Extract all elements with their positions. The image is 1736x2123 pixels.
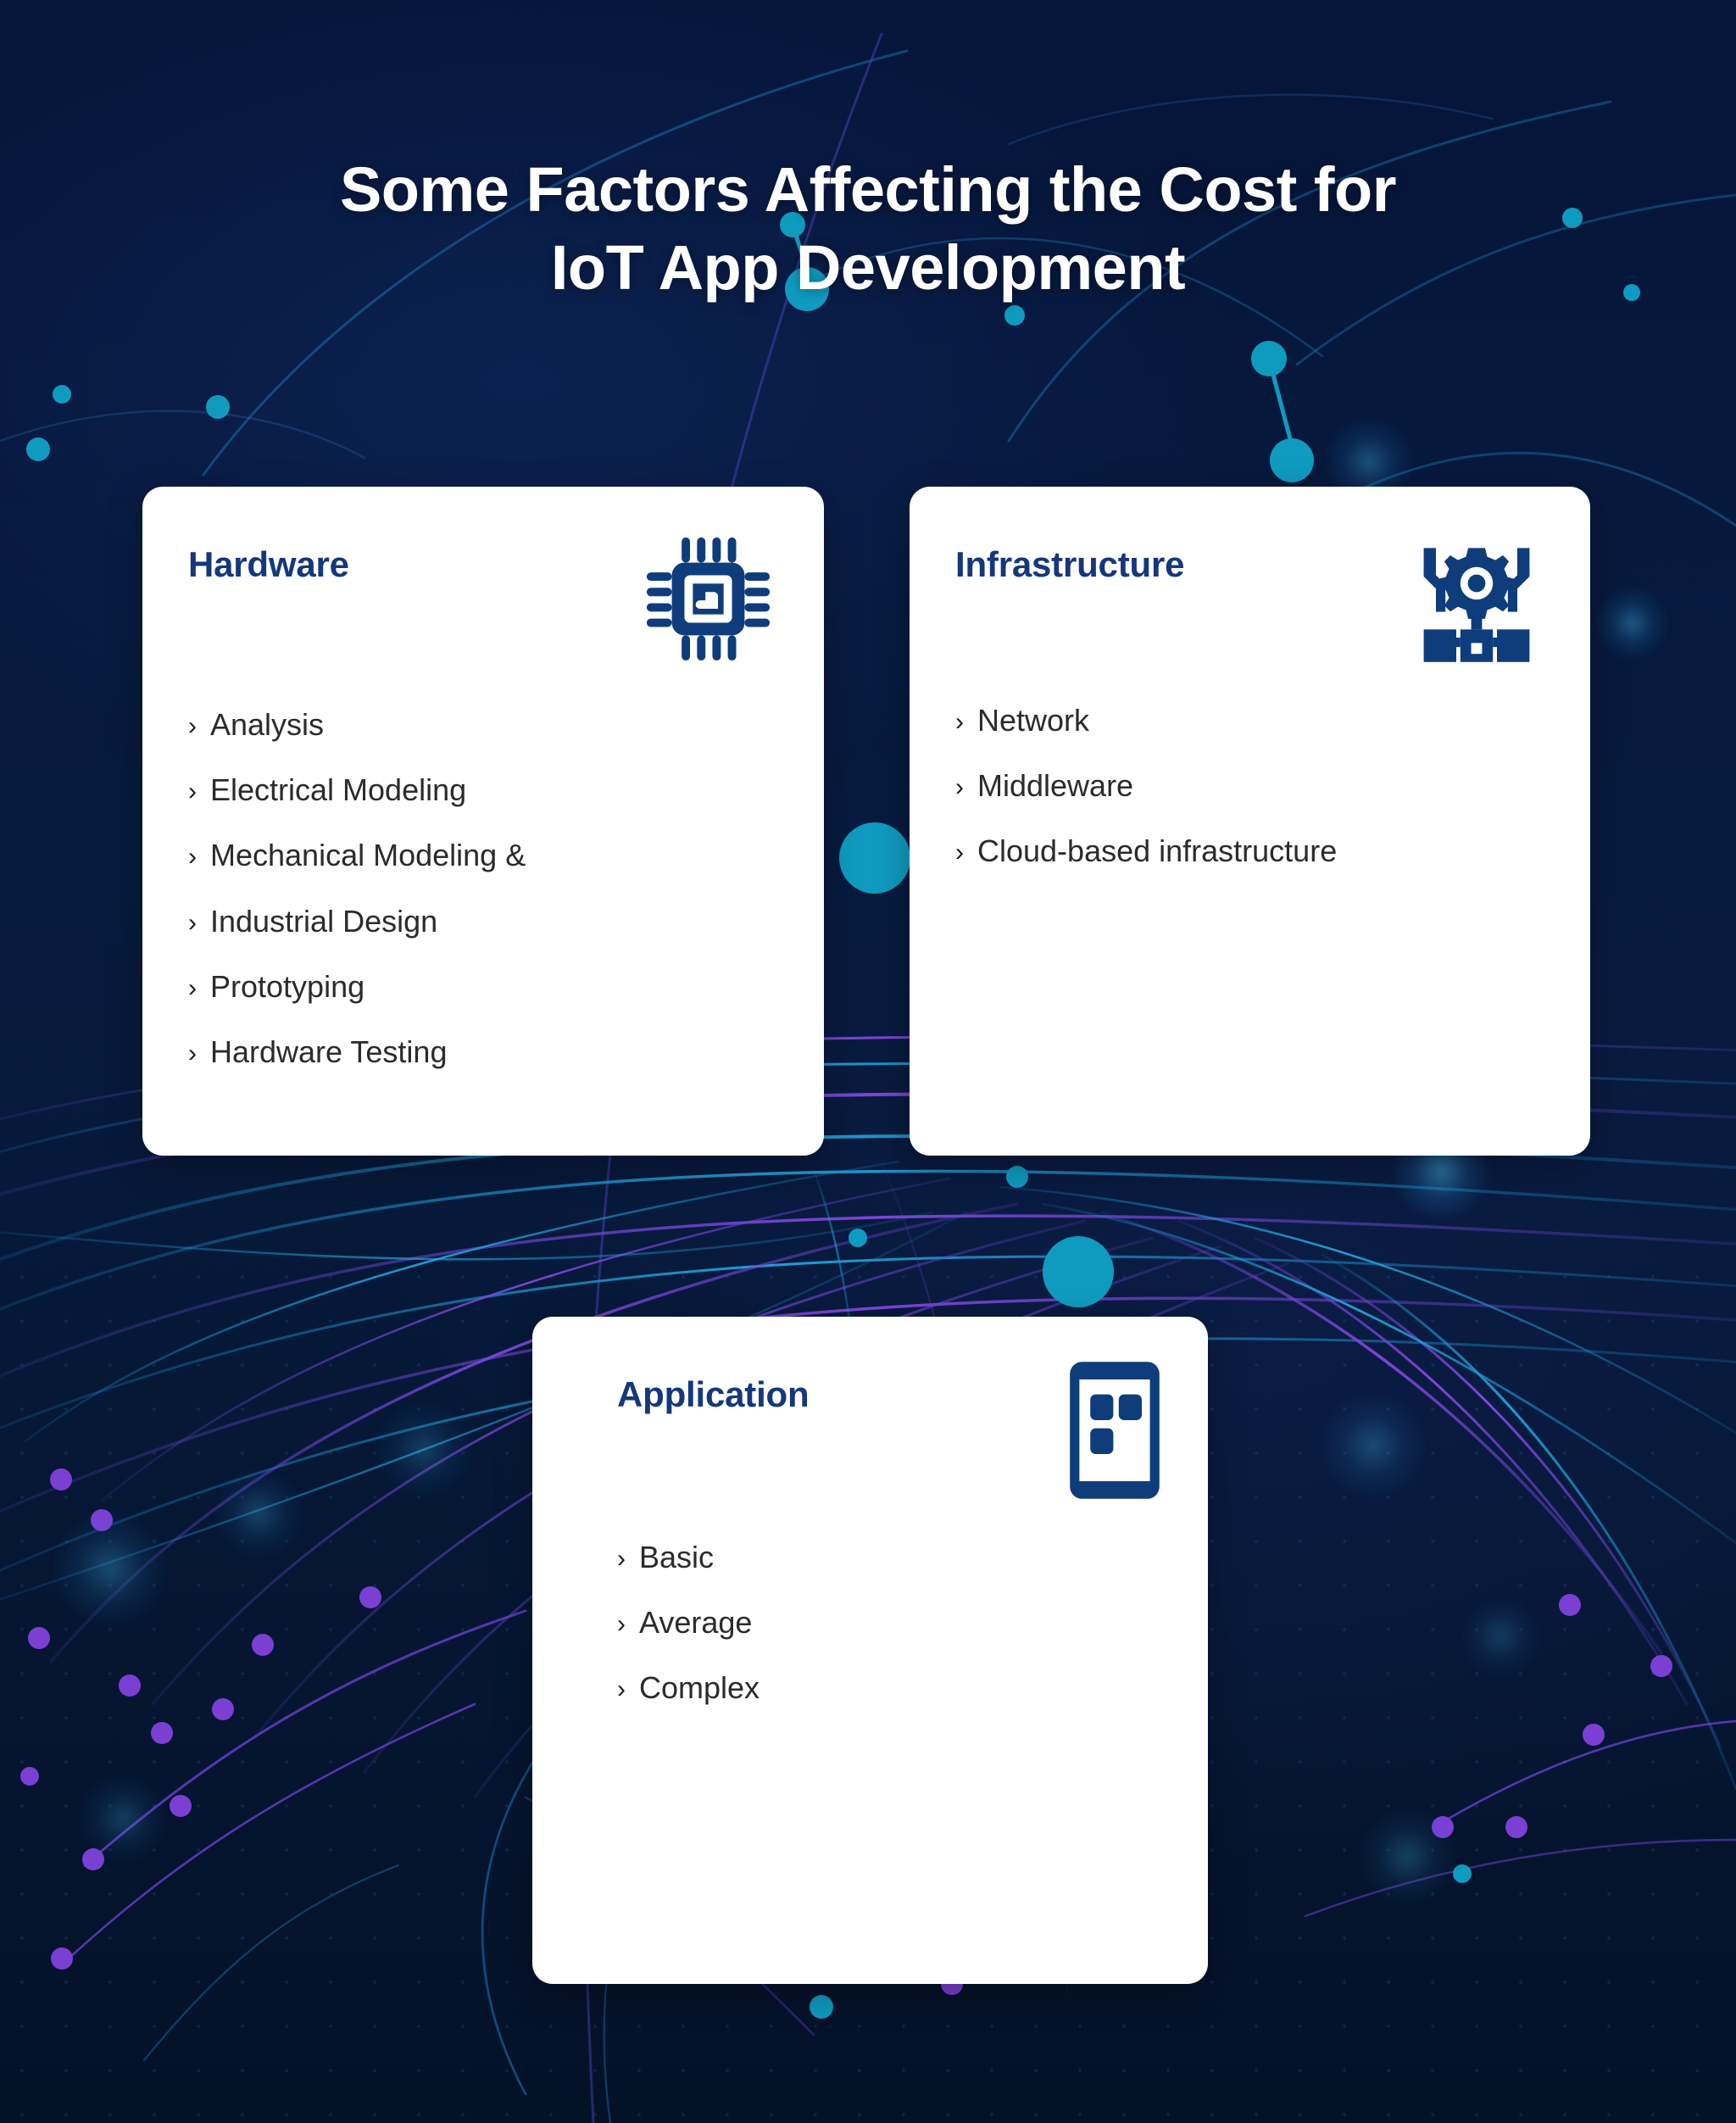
page-title-line-1: Some Factors Affecting the Cost for [340,154,1396,225]
chevron-right-icon: › [188,1039,197,1069]
page-title: Some Factors Affecting the Cost for IoT … [0,151,1736,308]
list-item-label: Middleware [977,767,1133,804]
glow-spot [1356,1806,1458,1908]
chevron-right-icon: › [955,772,964,803]
card-header: Hardware [188,527,778,673]
list-item-label: Hardware Testing [210,1034,447,1070]
glow-spot [373,1399,475,1501]
card-title-infrastructure: Infrastructure [955,527,1184,585]
chevron-right-icon: › [617,1609,626,1640]
card-application[interactable]: Application ›Basic ›Average ›Complex [532,1317,1208,1984]
chevron-right-icon: › [188,842,197,872]
application-item-list: ›Basic ›Average ›Complex [617,1524,1162,1721]
list-item[interactable]: ›Industrial Design [188,889,778,954]
list-item-label: Complex [639,1669,759,1706]
list-item[interactable]: ›Average [617,1590,1162,1655]
card-header: Application [617,1357,1162,1506]
list-item[interactable]: ›Mechanical Modeling & [188,822,778,888]
list-item-label: Network [977,702,1089,738]
glow-spot [1318,1390,1428,1501]
mobile-app-icon [1067,1359,1162,1506]
list-item[interactable]: ›Complex [617,1655,1162,1720]
list-item-label: Average [639,1604,752,1641]
chevron-right-icon: › [188,973,197,1004]
chevron-right-icon: › [955,707,964,738]
glow-spot [212,1467,305,1560]
card-title-hardware: Hardware [188,527,349,585]
list-item-label: Analysis [210,706,324,743]
chevron-right-icon: › [617,1544,626,1574]
card-title-application: Application [617,1357,809,1415]
list-item[interactable]: ›Basic [617,1524,1162,1590]
gear-server-icon [1409,529,1544,669]
list-item-label: Cloud-based infrastructure [977,833,1337,869]
glow-spot [1594,585,1670,661]
infographic-canvas: Some Factors Affecting the Cost for IoT … [0,0,1736,2123]
hardware-item-list: ›Analysis ›Electrical Modeling ›Mechanic… [188,692,778,1084]
list-item[interactable]: ›Prototyping [188,954,778,1019]
list-item-label: Basic [639,1539,714,1575]
glow-spot [1458,1594,1543,1679]
infrastructure-item-list: ›Network ›Middleware ›Cloud-based infras… [955,688,1544,884]
list-item-label: Industrial Design [210,903,437,939]
list-item-label: Mechanical Modeling & [210,837,526,873]
list-item[interactable]: ›Network [955,688,1544,753]
chevron-right-icon: › [188,777,197,807]
list-item-label: Electrical Modeling [210,772,466,808]
list-item[interactable]: ›Middleware [955,753,1544,818]
chevron-right-icon: › [955,838,964,868]
list-item[interactable]: ›Electrical Modeling [188,757,778,822]
list-item[interactable]: ›Hardware Testing [188,1019,778,1084]
list-item-label: Prototyping [210,968,364,1005]
list-item[interactable]: ›Analysis [188,692,778,757]
microchip-icon [638,529,778,673]
card-header: Infrastructure [955,527,1544,669]
glow-spot [76,1772,170,1865]
list-item[interactable]: ›Cloud-based infrastructure [955,818,1544,883]
page-title-line-2: IoT App Development [551,232,1185,303]
glow-spot [51,1509,170,1628]
chevron-right-icon: › [617,1674,626,1705]
card-hardware[interactable]: Hardware [142,487,824,1156]
chevron-right-icon: › [188,908,197,939]
chevron-right-icon: › [188,711,197,742]
card-infrastructure[interactable]: Infrastructure [910,487,1590,1156]
